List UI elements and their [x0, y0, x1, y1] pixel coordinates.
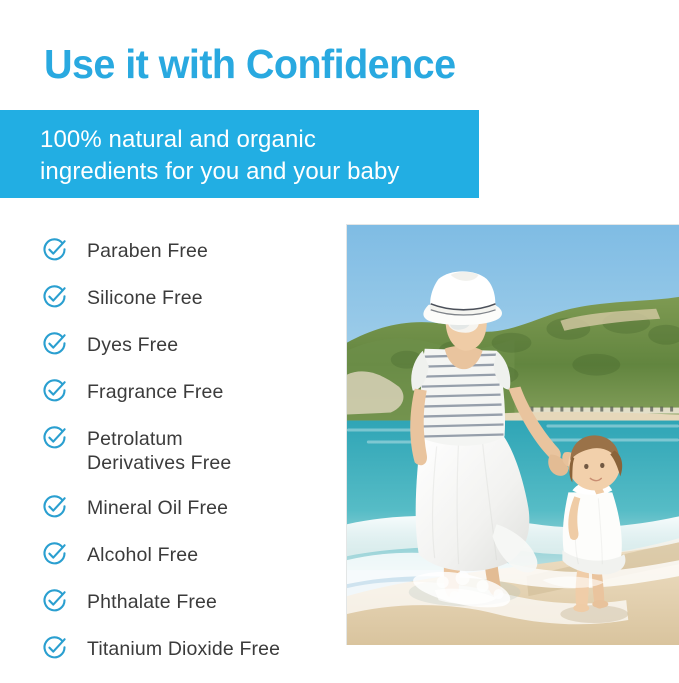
list-item: Paraben Free [42, 238, 332, 264]
list-item-label: Phthalate Free [87, 589, 217, 614]
list-item-label: Paraben Free [87, 238, 208, 263]
list-item: Titanium Dioxide Free [42, 636, 332, 662]
list-item: Phthalate Free [42, 589, 332, 615]
list-item: Silicone Free [42, 285, 332, 311]
list-item-label: Alcohol Free [87, 542, 198, 567]
list-item: Alcohol Free [42, 542, 332, 568]
list-item: Mineral Oil Free [42, 495, 332, 521]
list-item-label: Mineral Oil Free [87, 495, 228, 520]
list-item-label: Titanium Dioxide Free [87, 636, 280, 661]
check-circle-icon [42, 541, 68, 567]
list-item-label: Silicone Free [87, 285, 203, 310]
subtitle-line-1: 100% natural and organic [40, 124, 479, 156]
page-title: Use it with Confidence [44, 41, 623, 87]
list-item-label: Petrolatum Derivatives Free [87, 426, 231, 475]
list-item-label: Fragrance Free [87, 379, 224, 404]
subtitle-line-2: ingredients for you and your baby [40, 156, 479, 188]
check-circle-icon [42, 494, 68, 520]
check-circle-icon [42, 378, 68, 404]
list-item: Dyes Free [42, 332, 332, 358]
list-item: Fragrance Free [42, 379, 332, 405]
check-circle-icon [42, 635, 68, 661]
feature-list: Paraben Free Silicone Free Dyes Free Fra… [42, 238, 332, 683]
list-item-label: Dyes Free [87, 332, 178, 357]
list-item: Petrolatum Derivatives Free [42, 426, 332, 475]
lifestyle-photo [346, 224, 679, 645]
check-circle-icon [42, 331, 68, 357]
subtitle-banner: 100% natural and organic ingredients for… [0, 110, 479, 198]
check-circle-icon [42, 425, 68, 451]
check-circle-icon [42, 588, 68, 614]
check-circle-icon [42, 237, 68, 263]
check-circle-icon [42, 284, 68, 310]
